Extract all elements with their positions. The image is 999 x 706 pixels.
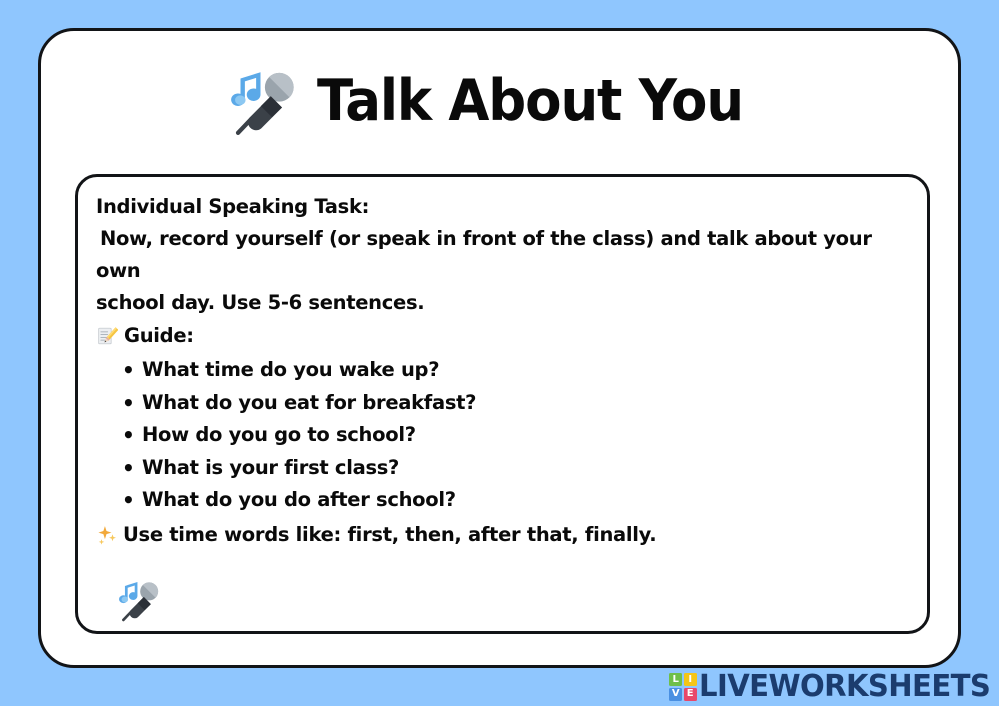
list-item: What do you eat for breakfast?: [142, 387, 909, 420]
list-item: What is your first class?: [142, 452, 909, 485]
tip-text: Use time words like: first, then, after …: [123, 519, 656, 551]
logo-cell-e: E: [684, 688, 697, 701]
guide-heading: Guide:: [96, 320, 909, 352]
worksheet-card: Talk About You Individual Speaking Task:…: [38, 28, 961, 668]
liveworksheets-logo[interactable]: L I V E LIVEWORKSHEETS: [669, 672, 999, 702]
task-content-box: Individual Speaking Task: Now, record yo…: [75, 174, 930, 634]
logo-cell-i: I: [684, 673, 697, 686]
page-title: Talk About You: [317, 73, 743, 130]
memo-icon: [96, 325, 118, 347]
guide-question-list: What time do you wake up? What do you ea…: [96, 354, 909, 517]
logo-cell-v: V: [669, 688, 682, 701]
list-item: How do you go to school?: [142, 419, 909, 452]
task-heading: Individual Speaking Task:: [96, 191, 909, 223]
studio-microphone-with-music-notes-icon: [114, 575, 164, 625]
task-body: Individual Speaking Task: Now, record yo…: [96, 191, 909, 625]
list-item: What do you do after school?: [142, 484, 909, 517]
liveworksheets-logo-grid: L I V E: [669, 673, 697, 701]
tip-line: Use time words like: first, then, after …: [96, 519, 909, 551]
bottom-emoji-wrap: [96, 575, 909, 625]
page-title-row: Talk About You: [41, 61, 958, 141]
guide-label: Guide:: [124, 320, 194, 352]
liveworksheets-wordmark: LIVEWORKSHEETS: [699, 672, 990, 702]
sparkles-icon: [96, 524, 118, 546]
list-item: What time do you wake up?: [142, 354, 909, 387]
instruction-line-1: Now, record yourself (or speak in front …: [96, 223, 909, 287]
instruction-line-2: school day. Use 5-6 sentences.: [96, 287, 909, 319]
logo-cell-l: L: [669, 673, 682, 686]
studio-microphone-with-music-notes-icon: [223, 61, 303, 141]
